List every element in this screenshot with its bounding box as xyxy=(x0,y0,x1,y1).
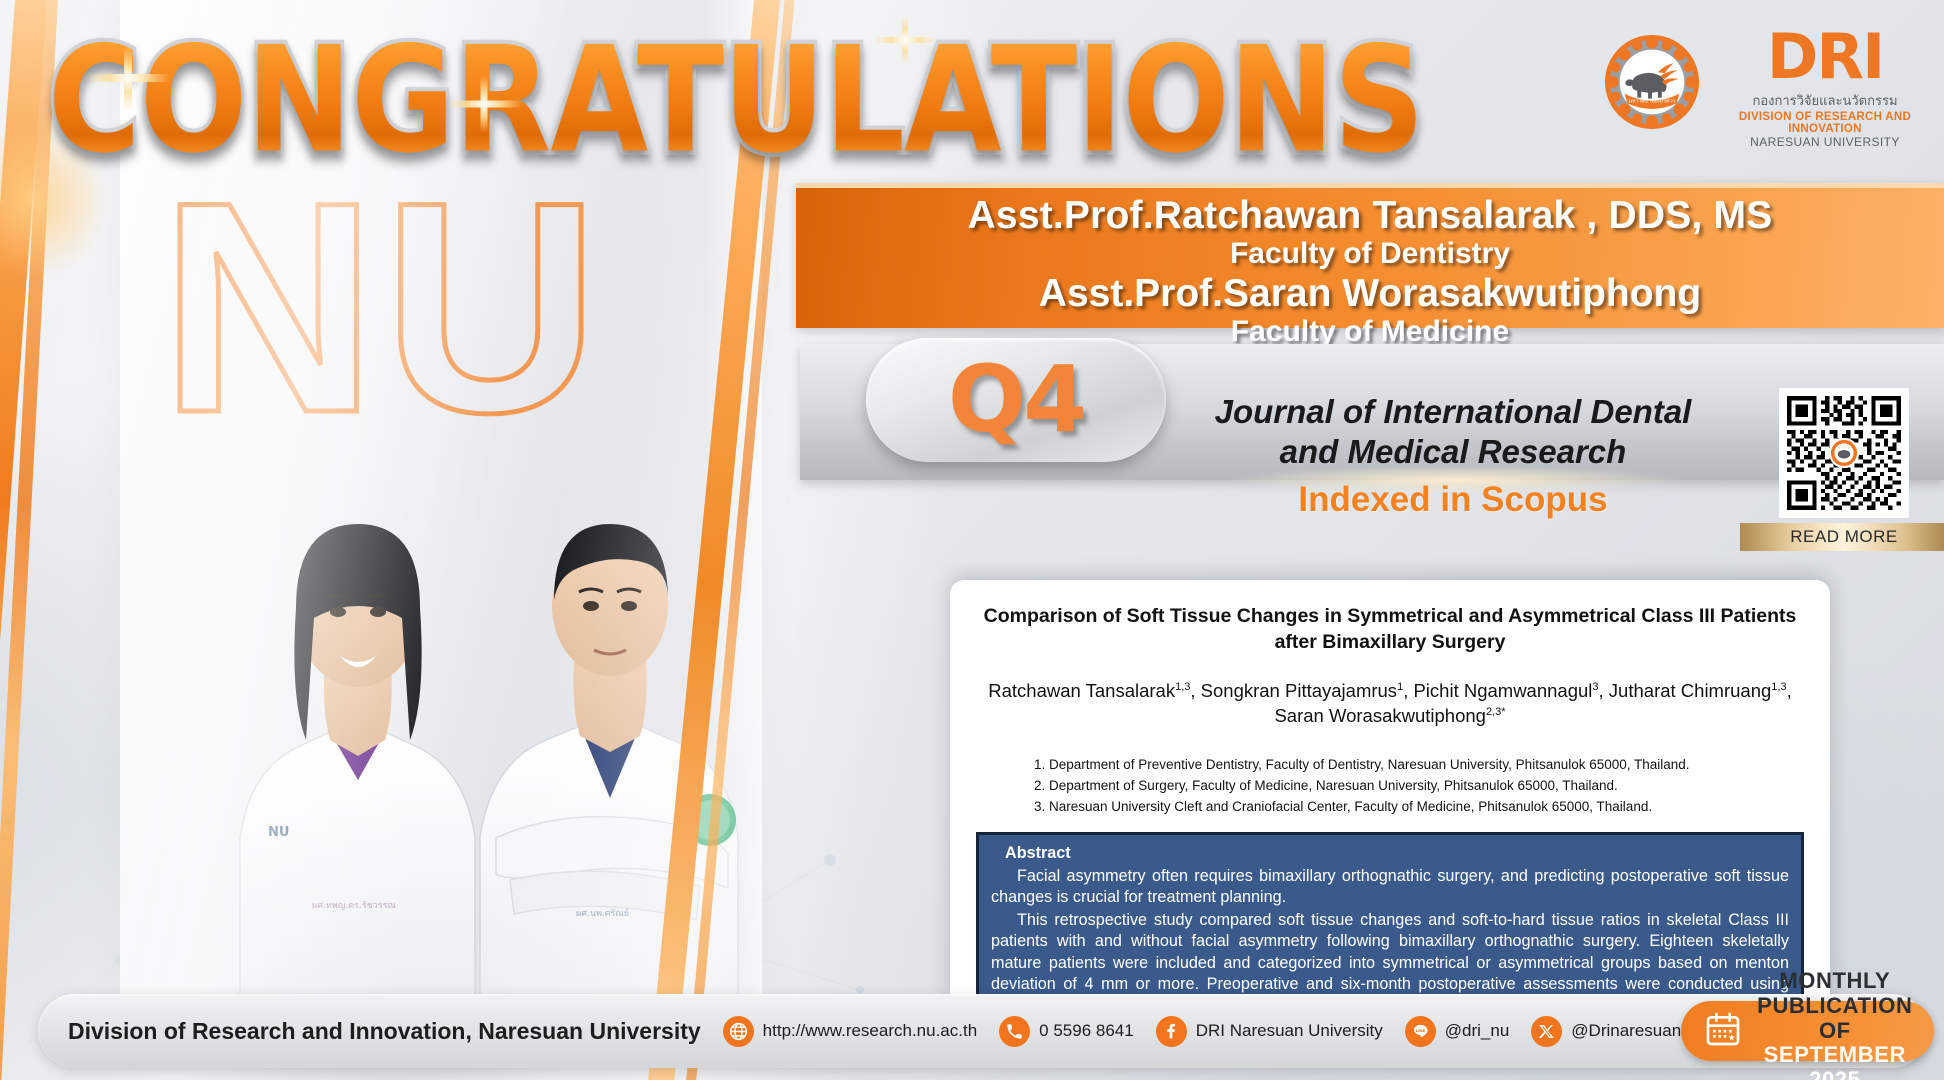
globe-icon xyxy=(723,1016,754,1047)
monthly-publication-text: MONTHLY PUBLICATION OF SEPTEMBER 2025 xyxy=(1757,969,1912,1080)
contact-website[interactable]: http://www.research.nu.ac.th xyxy=(723,1016,978,1047)
line-icon: LINE xyxy=(1405,1016,1436,1047)
author-1: Ratchawan Tansalarak xyxy=(988,680,1175,701)
journal-title: Journal of International Dental and Medi… xyxy=(1178,392,1728,471)
honoree-faculty-1: Faculty of Dentistry xyxy=(796,237,1944,271)
phone-number: 0 5596 8641 xyxy=(1039,1021,1134,1041)
dri-logo: DRI กองการวิจัยและนวัตกรรม DIVISION OF R… xyxy=(1726,26,1924,149)
dri-university-label: NARESUAN UNIVERSITY xyxy=(1726,135,1924,149)
contact-x-twitter[interactable]: @Drinaresuan xyxy=(1531,1016,1681,1047)
abstract-paragraph-1: Facial asymmetry often requires bimaxill… xyxy=(991,866,1789,909)
author-4-sup: 1,3 xyxy=(1771,681,1786,693)
x-handle: @Drinaresuan xyxy=(1571,1021,1681,1041)
honoree-name-banner: Asst.Prof.Ratchawan Tansalarak , DDS, MS… xyxy=(796,183,1944,328)
affiliation-3: 3. Naresuan University Cleft and Craniof… xyxy=(1034,797,1804,818)
author-sep-1: , Songkran Pittayajamrus xyxy=(1190,680,1397,701)
affiliation-1: 1. Department of Preventive Dentistry, F… xyxy=(1034,755,1804,776)
quartile-badge: Q4 xyxy=(866,338,1166,462)
honoree-name-1: Asst.Prof.Ratchawan Tansalarak , DDS, MS xyxy=(796,194,1944,238)
author-sep-2: , Pichit Ngamwannagul xyxy=(1403,680,1592,701)
footer-organization: Division of Research and Innovation, Nar… xyxy=(68,1018,701,1045)
contact-phone[interactable]: 0 5596 8641 xyxy=(999,1016,1134,1047)
affiliation-2: 2. Department of Surgery, Faculty of Med… xyxy=(1034,776,1804,797)
x-twitter-icon xyxy=(1531,1016,1562,1047)
dri-logo-mark: DRI xyxy=(1726,26,1924,88)
journal-title-line1: Journal of International Dental xyxy=(1178,392,1728,432)
paper-preview-card: Comparison of Soft Tissue Changes in Sym… xyxy=(950,580,1830,1010)
svg-text:NU: NU xyxy=(268,825,289,840)
svg-text:LINE: LINE xyxy=(1415,1027,1425,1032)
author-5-sup: 2,3* xyxy=(1486,706,1506,718)
read-more-badge[interactable]: READ MORE xyxy=(1740,523,1944,551)
facebook-icon xyxy=(1156,1016,1187,1047)
congratulations-title: CONGRATULATIONS xyxy=(48,16,1424,186)
abstract-label: Abstract xyxy=(1005,843,1789,865)
monthly-publication-button[interactable]: MONTHLY PUBLICATION OF SEPTEMBER 2025 xyxy=(1681,1001,1934,1061)
author-sep-3: , Jutharat Chimruang xyxy=(1599,680,1772,701)
svg-text:ผศ.ทพญ.ดร.รัชวรรณ: ผศ.ทพญ.ดร.รัชวรรณ xyxy=(312,901,396,911)
dri-english-label: DIVISION OF RESEARCH AND INNOVATION xyxy=(1726,111,1924,135)
svg-text:ผศ.นพ.ศรัณย์: ผศ.นพ.ศรัณย์ xyxy=(576,907,629,919)
svg-text:มหาวิทยาลัยนเรศวร: มหาวิทยาลัยนเรศวร xyxy=(1629,98,1676,105)
naresuan-university-seal-icon: มหาวิทยาลัยนเรศวร xyxy=(1603,33,1701,131)
calendar-icon xyxy=(1703,1009,1743,1054)
paper-title: Comparison of Soft Tissue Changes in Sym… xyxy=(976,604,1804,655)
facebook-name: DRI Naresuan University xyxy=(1196,1021,1383,1041)
poster-canvas: NU NU ผศ.ทพญ.ดร.รัชวรรณ xyxy=(0,0,1944,1080)
dri-thai-label: กองการวิจัยและนวัตกรรม xyxy=(1726,90,1924,111)
journal-title-line2: and Medical Research xyxy=(1178,432,1728,472)
quartile-label: Q4 xyxy=(948,354,1084,446)
contact-facebook[interactable]: DRI Naresuan University xyxy=(1156,1016,1383,1047)
phone-icon xyxy=(999,1016,1030,1047)
publication-line1: MONTHLY PUBLICATION OF xyxy=(1757,969,1912,1043)
website-url: http://www.research.nu.ac.th xyxy=(763,1021,978,1041)
scopus-indexed-label: Indexed in Scopus xyxy=(1178,480,1728,520)
footer-bar: Division of Research and Innovation, Nar… xyxy=(38,994,1928,1068)
paper-affiliations: 1. Department of Preventive Dentistry, F… xyxy=(976,755,1804,818)
paper-authors: Ratchawan Tansalarak1,3, Songkran Pittay… xyxy=(976,679,1804,729)
honoree-name-2: Asst.Prof.Saran Worasakwutiphong xyxy=(796,272,1944,316)
author-5: Saran Worasakwutiphong xyxy=(1274,705,1486,726)
author-sep-4: , xyxy=(1787,680,1792,701)
line-id: @dri_nu xyxy=(1445,1021,1510,1041)
author-1-sup: 1,3 xyxy=(1175,681,1190,693)
qr-code-icon[interactable] xyxy=(1779,388,1909,518)
paper-abstract: Abstract Facial asymmetry often requires… xyxy=(976,832,1804,1010)
contact-line[interactable]: LINE @dri_nu xyxy=(1405,1016,1510,1047)
publication-line2: SEPTEMBER 2025 xyxy=(1757,1043,1912,1080)
